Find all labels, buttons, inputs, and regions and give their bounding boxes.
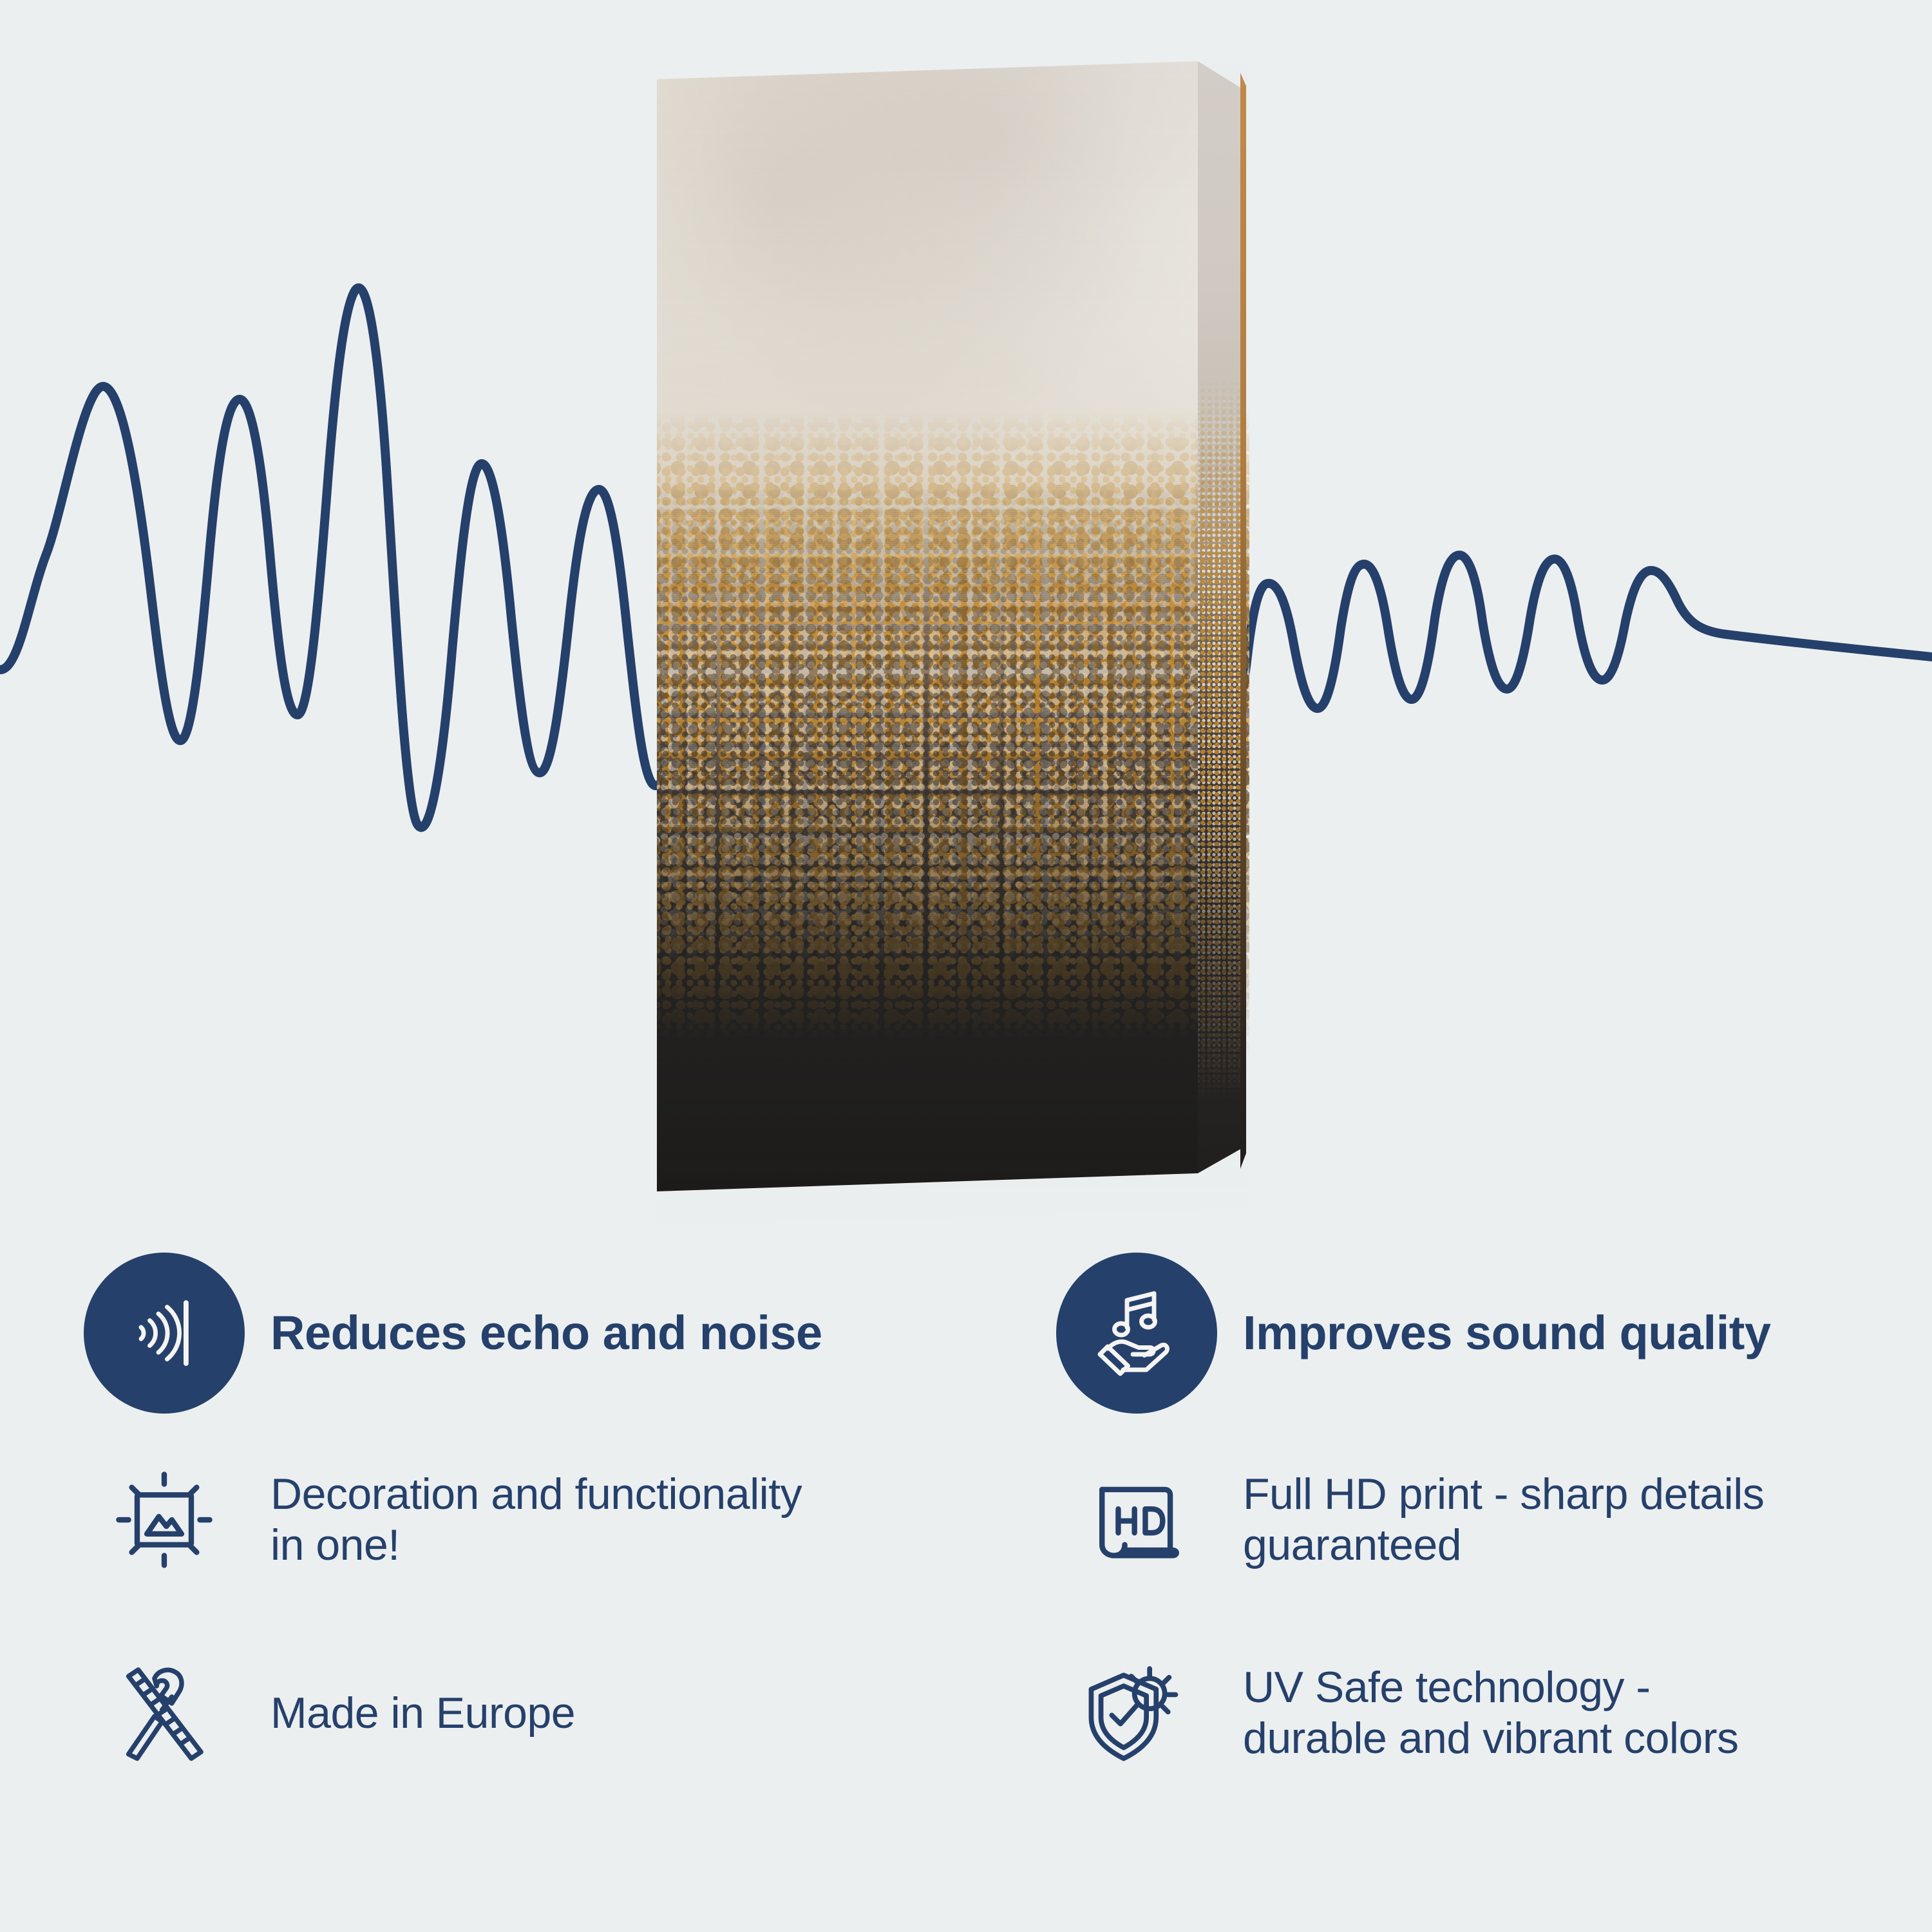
feature-column-right: Improves sound quality Full HD print - s… [1056,1243,1932,1810]
hd-print-slot [1056,1466,1217,1574]
framed-picture-shine-icon [110,1466,218,1574]
feature-item-reduces-echo: Reduces echo and noise [84,1243,1011,1423]
feature-text: UV Safe technology - durable and vibrant… [1243,1662,1738,1764]
feature-column-left: Reduces echo and noise [84,1243,1011,1810]
uv-shield-sun-slot [1056,1659,1217,1767]
canvas-artwork [657,61,1249,1227]
feature-item-uv-safe: UV Safe technology - durable and vibrant… [1056,1616,1932,1810]
uv-shield-sun-icon [1083,1659,1191,1767]
hand-music-note-icon [1088,1285,1185,1381]
hd-print-icon [1083,1466,1191,1574]
feature-text: Full HD print - sharp details guaranteed [1243,1469,1764,1571]
feature-text: Made in Europe [270,1688,575,1739]
framed-picture-shine-slot [84,1466,245,1574]
feature-text: Decoration and functionality in one! [270,1469,802,1571]
feature-item-decoration: Decoration and functionality in one! [84,1423,1011,1616]
sound-waves-barrier-badge [84,1253,245,1414]
ruler-hammer-icon [110,1659,218,1767]
feature-item-made-in-europe: Made in Europe [84,1616,1011,1810]
sound-waves-barrier-icon [116,1285,213,1381]
infographic-stage: Reduces echo and noise [0,0,1932,1932]
ruler-hammer-slot [84,1659,245,1767]
feature-title: Improves sound quality [1243,1308,1771,1358]
hand-music-note-badge [1056,1253,1217,1414]
feature-item-improves-sound: Improves sound quality [1056,1243,1932,1423]
feature-title: Reduces echo and noise [270,1308,822,1358]
canvas-weave-texture [657,61,1249,1227]
artwork-side-splatter [1198,61,1242,1191]
feature-list: Reduces echo and noise [0,1243,1932,1926]
artwork-stretcher-bar [1240,73,1246,1175]
feature-item-hd-print: Full HD print - sharp details guaranteed [1056,1423,1932,1616]
